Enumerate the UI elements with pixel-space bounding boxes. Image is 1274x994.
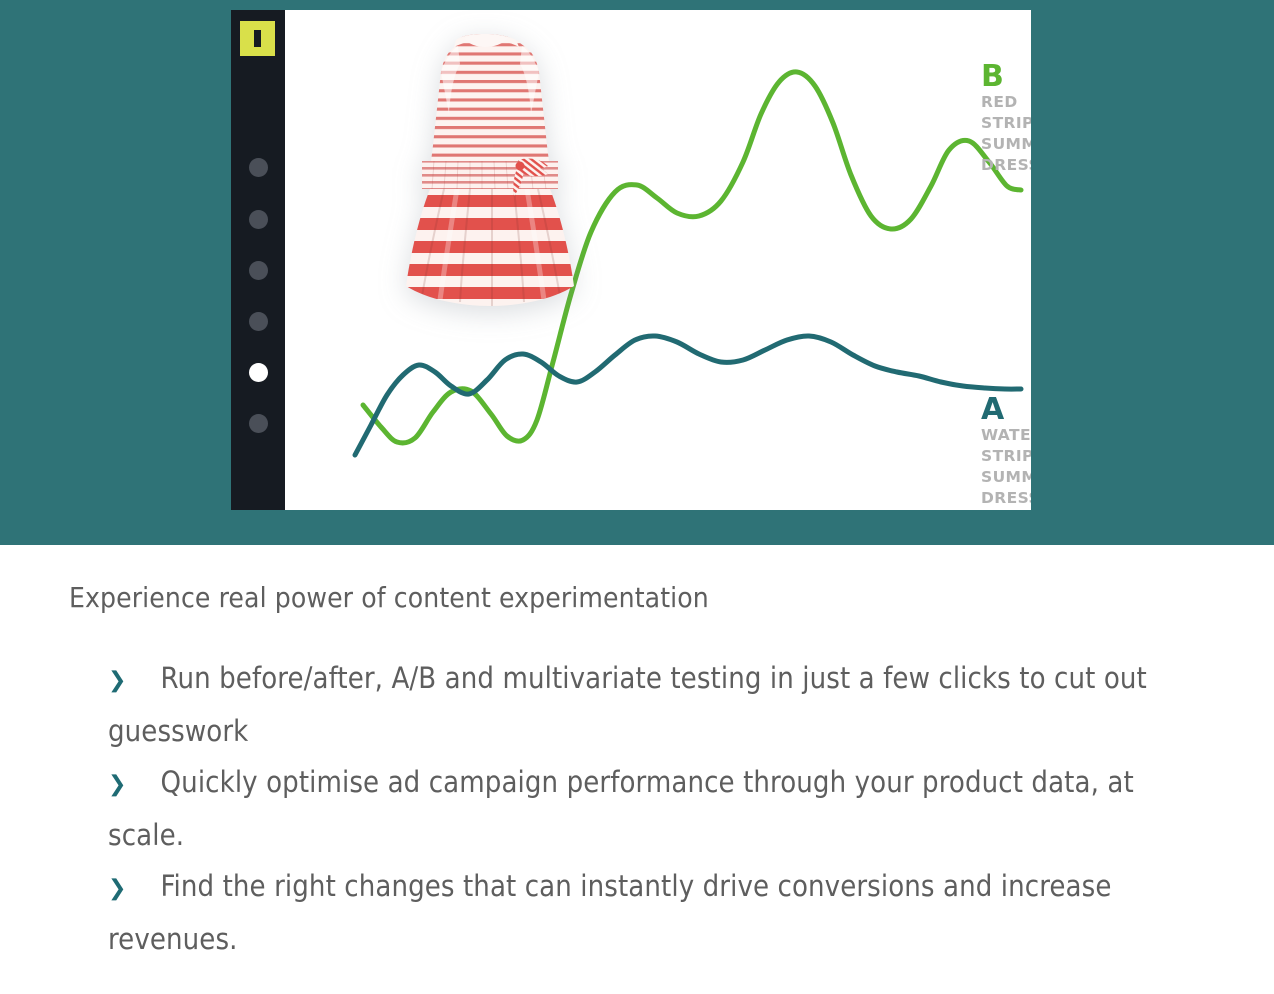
chevron-right-icon: ❯ [108, 668, 127, 693]
slide-dot-2[interactable] [249, 210, 268, 229]
slide-card: B RED STRIPED SUMMER DRESS A WATERMELON … [231, 10, 1031, 510]
logo-bar-shape [254, 30, 261, 47]
marketing-copy-section: Experience real power of content experim… [0, 545, 1274, 994]
slide-dot-6[interactable] [249, 414, 268, 433]
series-letter-a: A [981, 395, 1031, 425]
slide-dot-5[interactable] [249, 363, 268, 382]
chevron-right-icon: ❯ [108, 876, 127, 901]
series-label-b: B RED STRIPED SUMMER DRESS [981, 62, 1031, 176]
benefit-item-label: Quickly optimise ad campaign performance… [108, 765, 1134, 852]
slide-navigation-rail [231, 10, 285, 510]
benefit-item-label: Run before/after, A/B and multivariate t… [108, 661, 1147, 748]
presentation-logo-icon [240, 21, 275, 56]
benefit-item: ❯Quickly optimise ad campaign performanc… [108, 757, 1218, 861]
chart-line [355, 336, 1021, 455]
series-name-b: RED STRIPED SUMMER DRESS [981, 92, 1031, 176]
benefits-list: ❯Run before/after, A/B and multivariate … [108, 653, 1218, 965]
series-name-a: WATERMELON STRIPEY SUMMER DRESS [981, 425, 1031, 509]
benefit-item-label: Find the right changes that can instantl… [108, 869, 1112, 956]
chevron-right-icon: ❯ [108, 772, 127, 797]
product-dress-illustration [400, 34, 580, 349]
series-letter-b: B [981, 62, 1031, 92]
benefit-item: ❯Run before/after, A/B and multivariate … [108, 653, 1218, 757]
slide-dot-3[interactable] [249, 261, 268, 280]
chart-stage: B RED STRIPED SUMMER DRESS A WATERMELON … [285, 10, 1031, 510]
ab-test-line-chart [285, 10, 1031, 510]
section-intro-text: Experience real power of content experim… [69, 581, 709, 615]
slide-dot-1[interactable] [249, 158, 268, 177]
slide-dot-4[interactable] [249, 312, 268, 331]
series-label-a: A WATERMELON STRIPEY SUMMER DRESS [981, 395, 1031, 509]
benefit-item: ❯Find the right changes that can instant… [108, 861, 1218, 965]
hero-banner: B RED STRIPED SUMMER DRESS A WATERMELON … [0, 0, 1274, 545]
